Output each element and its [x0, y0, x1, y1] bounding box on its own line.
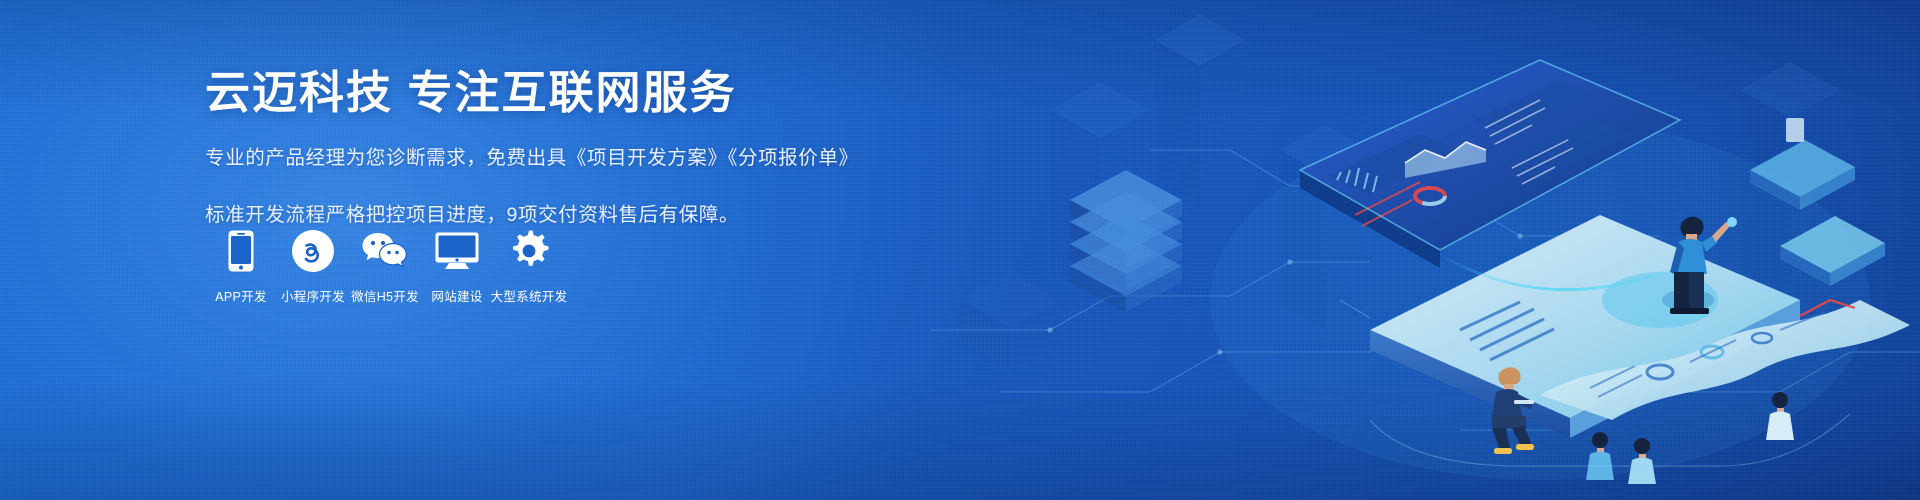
server-stack [1070, 170, 1182, 312]
phone-icon [228, 228, 254, 274]
wechat-icon [362, 228, 408, 274]
service-label: 微信H5开发 [351, 286, 419, 305]
illustration [900, 0, 1920, 500]
service-item-website[interactable]: 网站建设 [421, 228, 493, 305]
gear-icon [508, 228, 550, 274]
service-item-large-system[interactable]: 大型系统开发 [493, 228, 565, 305]
mini-program-icon [292, 228, 334, 274]
monitor-icon [435, 228, 479, 274]
service-label: 大型系统开发 [491, 286, 568, 305]
service-label: APP开发 [215, 286, 267, 305]
hero-copy: 云迈科技 专注互联网服务 专业的产品经理为您诊断需求，免费出具《项目开发方案》《… [205, 66, 965, 233]
page-title: 云迈科技 专注互联网服务 [205, 66, 965, 119]
hero-banner: 云迈科技 专注互联网服务 专业的产品经理为您诊断需求，免费出具《项目开发方案》《… [0, 0, 1920, 500]
service-label: 小程序开发 [281, 286, 345, 305]
service-label: 网站建设 [431, 286, 482, 305]
service-item-app[interactable]: APP开发 [205, 228, 277, 305]
service-list: APP开发 小程序开发 微信 [205, 228, 565, 305]
service-item-miniprogram[interactable]: 小程序开发 [277, 228, 349, 305]
service-item-wechat-h5[interactable]: 微信H5开发 [349, 228, 421, 305]
subtitle-line-1: 专业的产品经理为您诊断需求，免费出具《项目开发方案》《分项报价单》 [205, 141, 965, 176]
